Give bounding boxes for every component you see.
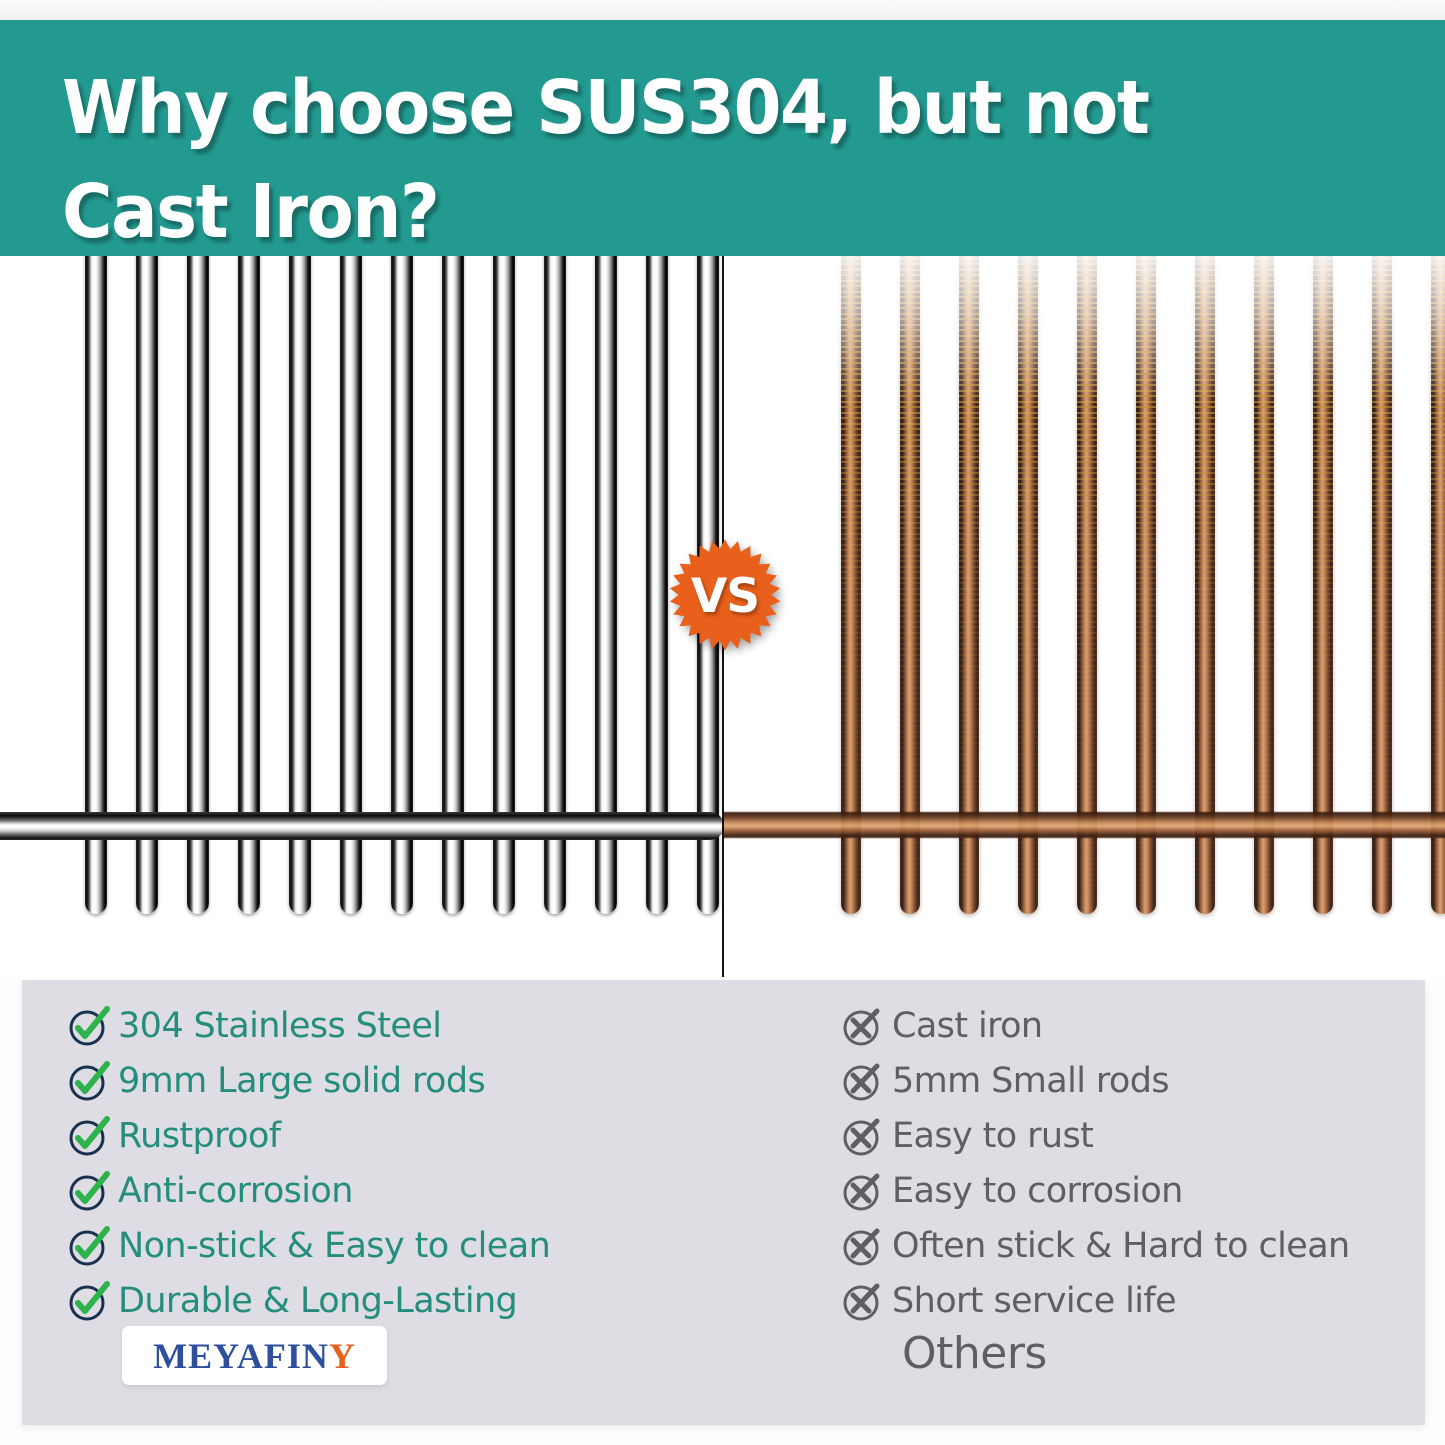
brand-name: MEYAFINY: [153, 1338, 356, 1374]
page-title: Why choose SUS304, but not Cast Iron?: [62, 56, 1159, 264]
cons-column: Cast iron 5mm Small rods: [840, 980, 1400, 1425]
list-item: Short service life: [840, 1273, 1400, 1328]
list-item: Easy to corrosion: [840, 1163, 1400, 1218]
brand-logo: MEYAFINY: [122, 1326, 387, 1385]
list-item-label: 304 Stainless Steel: [118, 1003, 441, 1049]
brand-name-main: MEYAFIN: [153, 1336, 329, 1376]
cross-circle-icon: [840, 1003, 892, 1049]
list-item-label: Durable & Long-Lasting: [118, 1278, 517, 1324]
infographic-page: Why choose SUS304, but not Cast Iron?: [0, 0, 1445, 1445]
list-item: Easy to rust: [840, 1108, 1400, 1163]
list-item-label: Anti-corrosion: [118, 1168, 353, 1214]
list-item: Cast iron: [840, 998, 1400, 1053]
cross-circle-icon: [840, 1168, 892, 1214]
cast-iron-panel: [723, 256, 1445, 980]
check-circle-icon: [66, 1058, 118, 1104]
list-item: 5mm Small rods: [840, 1053, 1400, 1108]
cross-circle-icon: [840, 1278, 892, 1324]
steel-crossbar: [0, 812, 723, 840]
cross-circle-icon: [840, 1058, 892, 1104]
check-circle-icon: [66, 1113, 118, 1159]
check-circle-icon: [66, 1168, 118, 1214]
list-item-label: 9mm Large solid rods: [118, 1058, 485, 1104]
list-item: 9mm Large solid rods: [66, 1053, 726, 1108]
list-item-label: Easy to corrosion: [892, 1168, 1183, 1214]
list-item-label: Easy to rust: [892, 1113, 1093, 1159]
vs-badge: VS: [667, 537, 783, 653]
list-item: Anti-corrosion: [66, 1163, 726, 1218]
list-item: Often stick & Hard to clean: [840, 1218, 1400, 1273]
brand-name-accent: Y: [329, 1336, 356, 1376]
list-item: 304 Stainless Steel: [66, 998, 726, 1053]
check-circle-icon: [66, 1003, 118, 1049]
list-item-label: Short service life: [892, 1278, 1176, 1324]
rust-crossbar: [723, 812, 1445, 838]
list-item-label: Rustproof: [118, 1113, 280, 1159]
cross-circle-icon: [840, 1113, 892, 1159]
header-band: Why choose SUS304, but not Cast Iron?: [0, 20, 1445, 256]
list-item: Non-stick & Easy to clean: [66, 1218, 726, 1273]
vs-label: VS: [691, 573, 759, 620]
check-circle-icon: [66, 1223, 118, 1269]
list-item-label: Cast iron: [892, 1003, 1043, 1049]
cross-circle-icon: [840, 1223, 892, 1269]
list-item: Rustproof: [66, 1108, 726, 1163]
cons-list: Cast iron 5mm Small rods: [840, 998, 1400, 1328]
list-item-label: Non-stick & Easy to clean: [118, 1223, 550, 1269]
stainless-steel-panel: [0, 256, 723, 980]
check-circle-icon: [66, 1278, 118, 1324]
list-item: Durable & Long-Lasting: [66, 1273, 726, 1328]
comparison-panel: 304 Stainless Steel 9mm Large solid rods: [22, 980, 1425, 1425]
list-item-label: Often stick & Hard to clean: [892, 1223, 1350, 1269]
pros-list: 304 Stainless Steel 9mm Large solid rods: [66, 998, 726, 1328]
top-strip: [0, 0, 1445, 20]
others-label: Others: [902, 1328, 1047, 1381]
pros-column: 304 Stainless Steel 9mm Large solid rods: [66, 980, 726, 1425]
list-item-label: 5mm Small rods: [892, 1058, 1169, 1104]
